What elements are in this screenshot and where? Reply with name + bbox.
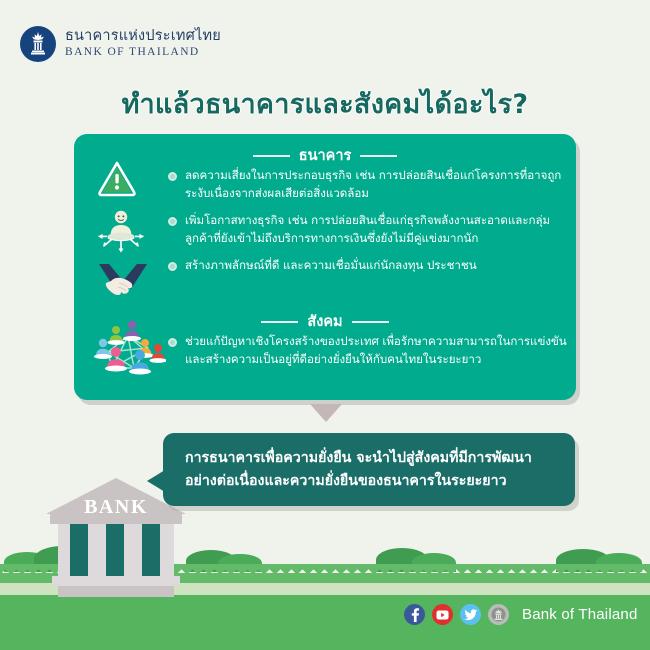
bank-column <box>142 524 160 576</box>
bullet-text: ช่วยแก้ปัญหาเชิงโครงสร้างของประเทศ เพื่อ… <box>185 333 576 369</box>
bank-of-thailand-emblem-icon <box>20 26 56 62</box>
benefits-card: ธนาคาร ลดความเสี่ยงในการประกอบธุรกิจ เช่… <box>74 134 576 400</box>
youtube-icon[interactable] <box>432 604 453 625</box>
bank-base-upper <box>52 576 180 586</box>
page-title: ทำแล้วธนาคารและสังคมได้อะไร? <box>0 82 650 125</box>
bank-column <box>106 524 124 576</box>
bullet-text: เพิ่มโอกาสทางธุรกิจ เช่น การปล่อยสินเชื่… <box>185 212 576 248</box>
bank-base-lower <box>58 586 174 597</box>
icon-column <box>88 134 166 400</box>
bullet-list-society: ช่วยแก้ปัญหาเชิงโครงสร้างของประเทศ เพื่อ… <box>168 333 576 369</box>
brand-name-en: BANK OF THAILAND <box>65 45 221 59</box>
list-item: เพิ่มโอกาสทางธุรกิจ เช่น การปล่อยสินเชื่… <box>168 212 576 248</box>
handshake-icon <box>97 262 149 296</box>
bullet-text: ลดความเสี่ยงในการประกอบธุรกิจ เช่น การปล… <box>185 167 576 203</box>
facebook-glyph-icon <box>410 608 420 622</box>
person-opportunity-icon <box>97 209 145 255</box>
list-item: สร้างภาพลักษณ์ที่ดี และความเชื่อมั่นแก่น… <box>168 257 576 275</box>
bullet-dot-icon <box>168 262 177 271</box>
section-heading-bank: ธนาคาร <box>74 144 576 167</box>
twitter-icon[interactable] <box>460 604 481 625</box>
emblem-glyph-icon <box>26 31 50 57</box>
section-label-bank: ธนาคาร <box>299 144 352 167</box>
bot-logo-icon[interactable] <box>488 604 509 625</box>
list-item: ลดความเสี่ยงในการประกอบธุรกิจ เช่น การปล… <box>168 167 576 203</box>
footer-social-bar: Bank of Thailand <box>404 604 638 625</box>
bank-architrave <box>50 514 182 524</box>
footer-label: Bank of Thailand <box>522 606 638 623</box>
facebook-icon[interactable] <box>404 604 425 625</box>
youtube-glyph-icon <box>436 610 449 620</box>
divider-left <box>261 321 298 323</box>
section-label-society: สังคม <box>307 310 342 333</box>
divider-left <box>253 155 290 157</box>
list-item: ช่วยแก้ปัญหาเชิงโครงสร้างของประเทศ เพื่อ… <box>168 333 576 369</box>
bullet-dot-icon <box>168 217 177 226</box>
bot-emblem-glyph-icon <box>491 607 506 622</box>
bullet-text: สร้างภาพลักษณ์ที่ดี และความเชื่อมั่นแก่น… <box>185 257 477 275</box>
section-heading-society: สังคม <box>74 310 576 333</box>
brand-name-th: ธนาคารแห่งประเทศไทย <box>65 28 221 45</box>
brand-header: ธนาคารแห่งประเทศไทย BANK OF THAILAND <box>20 26 221 62</box>
bullet-list-bank: ลดความเสี่ยงในการประกอบธุรกิจ เช่น การปล… <box>168 167 576 275</box>
conclusion-bubble: การธนาคารเพื่อความยั่งยืน จะนำไปสู่สังคม… <box>163 433 575 506</box>
bullet-dot-icon <box>168 338 177 347</box>
arrow-down-icon <box>310 404 342 422</box>
divider-right <box>352 321 389 323</box>
divider-right <box>360 155 397 157</box>
twitter-bird-glyph-icon <box>464 609 478 621</box>
bullet-dot-icon <box>168 172 177 181</box>
bank-column <box>70 524 88 576</box>
conclusion-text: การธนาคารเพื่อความยั่งยืน จะนำไปสู่สังคม… <box>185 447 553 493</box>
